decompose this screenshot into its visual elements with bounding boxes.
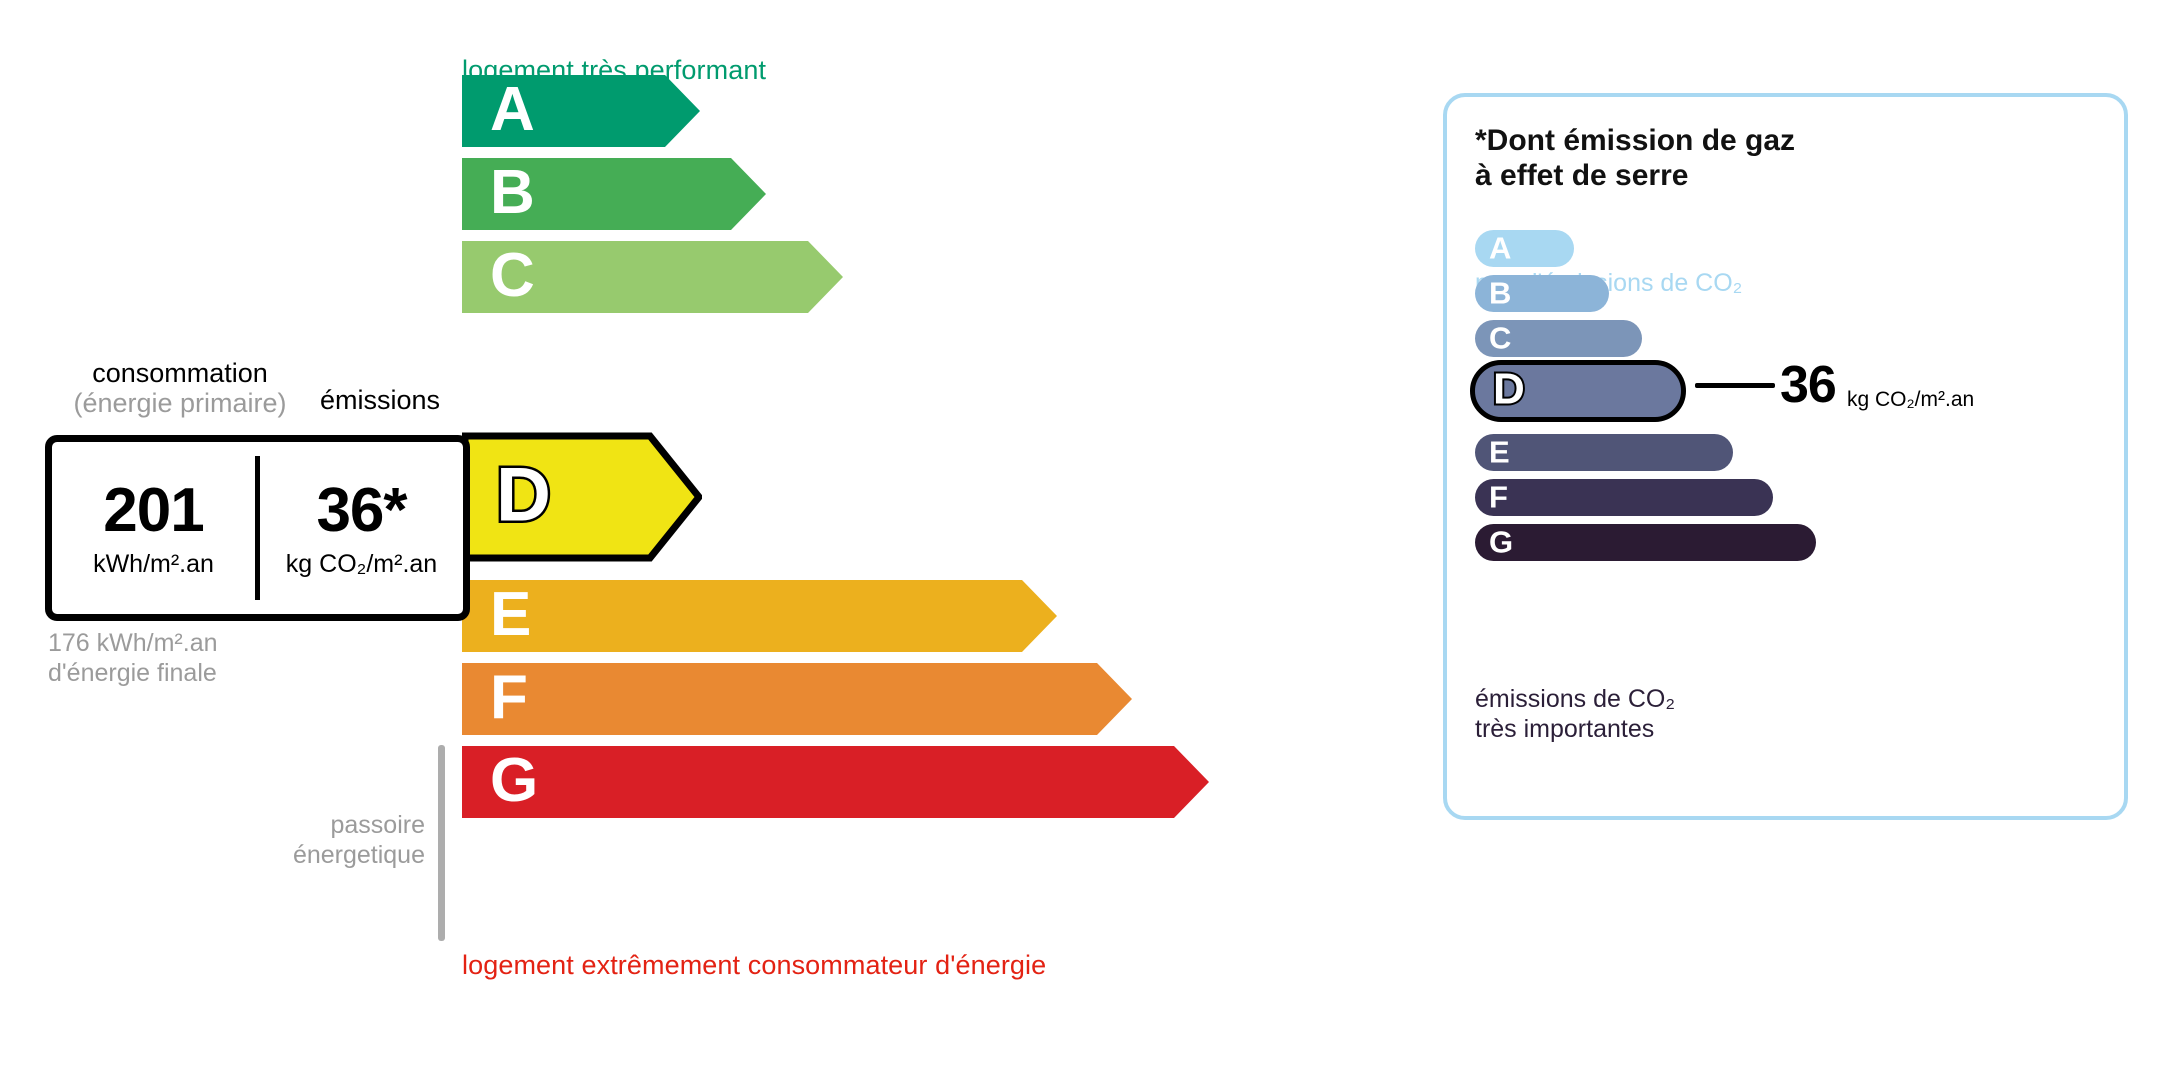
emission-cell: 36* kg CO₂/m².an — [260, 442, 463, 614]
energy-band-letter: A — [490, 79, 535, 141]
energy-band-letter: D — [496, 457, 551, 533]
co2-band-E[interactable]: E — [1475, 434, 1733, 471]
co2-band-letter: D — [1493, 368, 1525, 412]
consommation-label: consommation (énergie primaire) — [45, 358, 315, 418]
emission-value: 36* — [316, 480, 406, 542]
co2-callout-value: 36 — [1780, 359, 1836, 411]
energy-band-letter: F — [490, 667, 528, 729]
energy-band-F[interactable]: F — [462, 663, 1132, 735]
co2-callout-line — [1695, 383, 1775, 388]
consumption-value: 201 — [103, 480, 203, 542]
energy-consumption-chart: logement très performant A B C — [0, 0, 1400, 1079]
energy-band-A[interactable]: A — [462, 75, 700, 147]
co2-title-line2: à effet de serre — [1475, 158, 1795, 193]
dpe-diagram: logement très performant A B C — [0, 0, 2169, 1079]
energy-bottom-caption: logement extrêmement consommateur d'éner… — [462, 950, 1046, 981]
co2-band-G[interactable]: G — [1475, 524, 1816, 561]
energy-band-D-selected[interactable]: D — [462, 432, 702, 562]
energy-band-E[interactable]: E — [462, 580, 1057, 652]
emission-unit: kg CO₂/m².an — [286, 552, 437, 577]
co2-band-letter: B — [1489, 277, 1511, 308]
co2-band-D-selected[interactable]: D — [1470, 360, 1686, 422]
energy-band-letter: E — [490, 584, 531, 646]
emissions-label: émissions — [320, 385, 440, 416]
band-arrow-shape — [462, 746, 1209, 818]
energy-band-B[interactable]: B — [462, 158, 766, 230]
band-arrow-shape — [462, 580, 1057, 652]
energy-band-letter: C — [490, 245, 535, 307]
energy-band-letter: G — [490, 750, 538, 812]
final-energy-label: 176 kWh/m².an d'énergie finale — [48, 628, 218, 688]
co2-band-A[interactable]: A — [1475, 230, 1574, 267]
co2-band-letter: G — [1489, 526, 1513, 557]
passoire-label-line1: passoire — [210, 810, 425, 840]
co2-panel-title: *Dont émission de gaz à effet de serre — [1475, 123, 1795, 194]
energy-band-G[interactable]: G — [462, 746, 1209, 818]
co2-callout-unit: kg CO₂/m².an — [1847, 389, 1974, 410]
passoire-bracket — [438, 745, 445, 941]
co2-band-F[interactable]: F — [1475, 479, 1773, 516]
co2-band-C[interactable]: C — [1475, 320, 1642, 357]
co2-emissions-panel: *Dont émission de gaz à effet de serre p… — [1443, 93, 2128, 820]
co2-band-B[interactable]: B — [1475, 275, 1609, 312]
co2-band-letter: C — [1489, 322, 1511, 353]
passoire-label: passoire énergetique — [210, 810, 425, 870]
final-energy-sub: d'énergie finale — [48, 658, 218, 688]
consumption-unit: kWh/m².an — [93, 552, 214, 577]
co2-bottom-caption-line1: émissions de CO₂ — [1475, 684, 1675, 714]
energy-band-letter: B — [490, 162, 535, 224]
co2-band-letter: E — [1489, 436, 1510, 467]
co2-band-letter: A — [1489, 232, 1511, 263]
energy-band-C[interactable]: C — [462, 241, 843, 313]
co2-title-line1: *Dont émission de gaz — [1475, 123, 1795, 158]
band-arrow-shape — [462, 663, 1132, 735]
consommation-label-sub: (énergie primaire) — [45, 388, 315, 418]
passoire-label-line2: énergetique — [210, 840, 425, 870]
co2-bottom-caption: émissions de CO₂ très importantes — [1475, 684, 1675, 744]
consumption-cell: 201 kWh/m².an — [52, 442, 255, 614]
consommation-label-main: consommation — [92, 358, 268, 388]
final-energy-value: 176 kWh/m².an — [48, 628, 218, 658]
co2-band-letter: F — [1489, 481, 1508, 512]
co2-bottom-caption-line2: très importantes — [1475, 714, 1675, 744]
consumption-value-box: 201 kWh/m².an 36* kg CO₂/m².an — [45, 435, 470, 621]
